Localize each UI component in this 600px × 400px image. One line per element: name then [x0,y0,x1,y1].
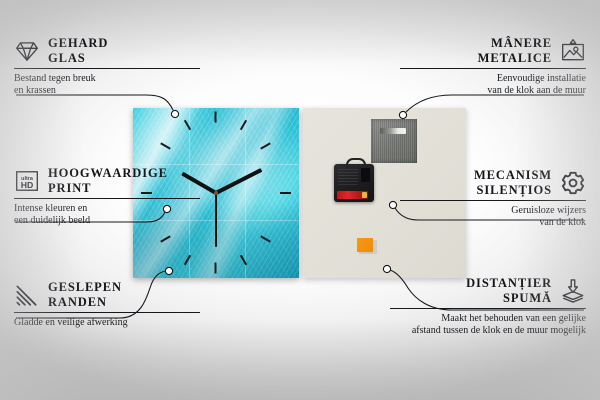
metal-hanger-plate [371,119,417,163]
spacer-press-icon [560,278,586,304]
feature-description: Intense kleuren en een duidelijk beeld [14,203,200,228]
infographic-canvas: GEHARD GLAS Bestand tegen breuk en krass… [0,0,600,400]
feature-description: Eenvoudige installatie van de klok aan d… [400,73,586,98]
mechanism-block [361,168,370,182]
feature-title: GEHARD GLAS [48,36,108,65]
feature-description: Bestand tegen breuk en krassen [14,73,200,98]
feature-hoogwaardige-print: ultra HD HOOGWAARDIGE PRINT Intense kleu… [14,166,200,228]
hanger-slot [380,128,406,134]
feature-title: HOOGWAARDIGE PRINT [48,166,168,195]
feature-divider [400,200,586,201]
foam-spacer [357,238,373,252]
feature-description: Geruisloze wijzers van de klok [400,205,586,230]
feature-header: MÂNERE METALICE [400,36,586,65]
picture-frame-icon [560,38,586,64]
feature-description: Maakt het behouden van een gelijke afsta… [390,313,586,338]
battery [337,191,368,199]
feature-gehard-glas: GEHARD GLAS Bestand tegen breuk en krass… [14,36,200,98]
feature-header: GEHARD GLAS [14,36,200,65]
feature-divider [14,198,200,199]
ultra-hd-icon: ultra HD [14,168,40,194]
mechanism-grill [338,169,358,185]
diamond-icon [14,38,40,64]
feature-header: ultra HD HOOGWAARDIGE PRINT [14,166,200,195]
feature-title: GESLEPEN RANDEN [48,280,122,309]
feature-divider [400,68,586,69]
feature-header: MECANISM SILENȚIOS [400,168,586,197]
beveled-edge-icon [14,282,40,308]
feature-mecanism-silentios: MECANISM SILENȚIOS Geruisloze wijzers va… [400,168,586,230]
feature-divider [14,68,200,69]
feature-manere-metalice: MÂNERE METALICE Eenvoudige installatie v… [400,36,586,98]
feature-description: Gladde en veilige afwerking [14,317,200,329]
feature-divider [14,312,200,313]
feature-title: MÂNERE METALICE [478,36,552,65]
feature-geslepen-randen: GESLEPEN RANDEN Gladde en veilige afwerk… [14,280,200,329]
feature-title: DISTANȚIER SPUMĂ [466,276,552,305]
clock-second-hand [215,191,217,247]
feature-divider [390,308,586,309]
svg-text:HD: HD [21,179,34,189]
clock-mechanism-housing [334,164,374,202]
clock-center-pin [214,191,218,195]
gear-icon [560,170,586,196]
feature-title: MECANISM SILENȚIOS [474,168,552,197]
feature-header: DISTANȚIER SPUMĂ [390,276,586,305]
feature-header: GESLEPEN RANDEN [14,280,200,309]
feature-distantier-spuma: DISTANȚIER SPUMĂ Maakt het behouden van … [390,276,586,338]
